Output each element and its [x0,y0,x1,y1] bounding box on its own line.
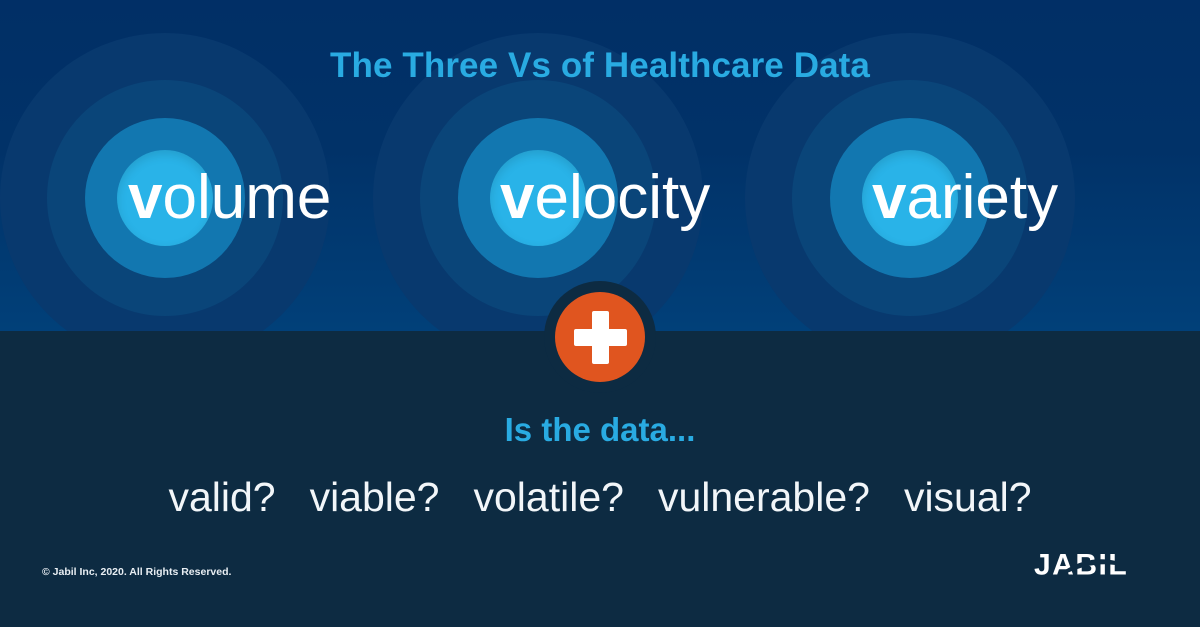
copyright-notice: © Jabil Inc, 2020. All Rights Reserved. [42,566,231,578]
v-word-variety: variety [872,167,1058,229]
v-word-remainder: elocity [534,163,710,232]
page-title: The Three Vs of Healthcare Data [0,46,1200,86]
question-volatile: volatile? [474,474,624,521]
v-word-remainder: ariety [906,163,1058,232]
plus-icon-horizontal-bar [574,329,627,346]
v-word-lead-letter: v [128,163,162,232]
question-viable: viable? [310,474,440,521]
v-word-remainder: olume [162,163,331,232]
v-word-volume: volume [128,167,331,229]
v-word-lead-letter: v [872,163,906,232]
question-valid: valid? [168,474,275,521]
question-visual: visual? [904,474,1032,521]
question-row: valid? viable? volatile? vulnerable? vis… [0,474,1200,521]
v-word-velocity: velocity [500,167,710,229]
question-vulnerable: vulnerable? [658,474,870,521]
v-word-lead-letter: v [500,163,534,232]
subheading: Is the data... [0,411,1200,449]
infographic-canvas: The Three Vs of Healthcare Data volume v… [0,0,1200,627]
jabil-logo: JABIL [1034,548,1156,582]
